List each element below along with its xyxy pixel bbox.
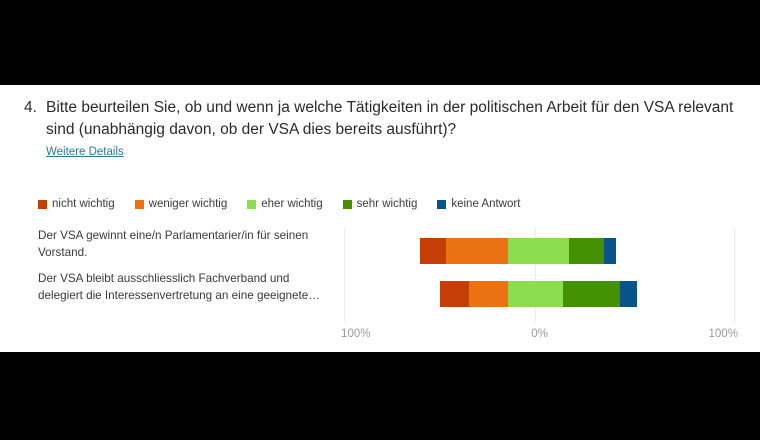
axis-tick-label: 100% [341,328,370,340]
category-label: Der VSA gewinnt eine/n Parlamentarier/in… [38,228,334,262]
weitere-details-link[interactable]: Weitere Details [46,146,124,158]
legend-label: weniger wichtig [149,198,228,210]
question-title: Bitte beurteilen Sie, ob und wenn ja wel… [46,97,736,141]
bar-segment-sehr-wichtig[interactable] [563,281,620,307]
legend-label: eher wichtig [261,198,322,210]
chart-legend: nicht wichtigweniger wichtigeher wichtig… [38,198,540,210]
letterbox-top [0,0,760,85]
question-number: 4. [24,97,46,119]
bar-row [344,238,735,264]
screenshot-viewport: 4. Bitte beurteilen Sie, ob und wenn ja … [0,0,760,440]
legend-swatch-icon [437,200,446,209]
bar-segment-nicht-wichtig[interactable] [420,238,445,264]
slide-content: 4. Bitte beurteilen Sie, ob und wenn ja … [0,85,760,352]
letterbox-bottom [0,352,760,440]
bar-segment-nicht-wichtig[interactable] [440,281,469,307]
question-row: 4. Bitte beurteilen Sie, ob und wenn ja … [24,97,736,141]
bar-segment-keine-antwort[interactable] [604,238,616,264]
plot-area [344,228,735,323]
bar-segment-sehr-wichtig[interactable] [569,238,604,264]
legend-swatch-icon [247,200,256,209]
category-label: Der VSA bleibt ausschliesslich Fachverba… [38,271,334,305]
axis-tick-label: 100% [709,328,738,340]
bar-segment-weniger-wichtig[interactable] [446,238,509,264]
axis-tick-label: 0% [531,328,548,340]
bar-segment-weniger-wichtig[interactable] [469,281,508,307]
legend-item[interactable]: nicht wichtig [38,198,115,210]
legend-label: keine Antwort [451,198,520,210]
diverging-stacked-bar-chart: Der VSA gewinnt eine/n Parlamentarier/in… [0,228,760,338]
bar-segment-eher-wichtig[interactable] [508,281,563,307]
legend-item[interactable]: weniger wichtig [135,198,228,210]
legend-label: nicht wichtig [52,198,115,210]
legend-item[interactable]: sehr wichtig [343,198,418,210]
legend-item[interactable]: keine Antwort [437,198,520,210]
bar-segment-eher-wichtig[interactable] [508,238,569,264]
legend-swatch-icon [343,200,352,209]
legend-item[interactable]: eher wichtig [247,198,322,210]
legend-swatch-icon [135,200,144,209]
bar-segment-keine-antwort[interactable] [620,281,638,307]
stacked-bar[interactable] [420,238,615,264]
stacked-bar[interactable] [440,281,637,307]
legend-swatch-icon [38,200,47,209]
question-block: 4. Bitte beurteilen Sie, ob und wenn ja … [24,97,736,160]
bar-row [344,281,735,307]
legend-label: sehr wichtig [357,198,418,210]
x-axis: 100%0%100% [344,323,735,343]
